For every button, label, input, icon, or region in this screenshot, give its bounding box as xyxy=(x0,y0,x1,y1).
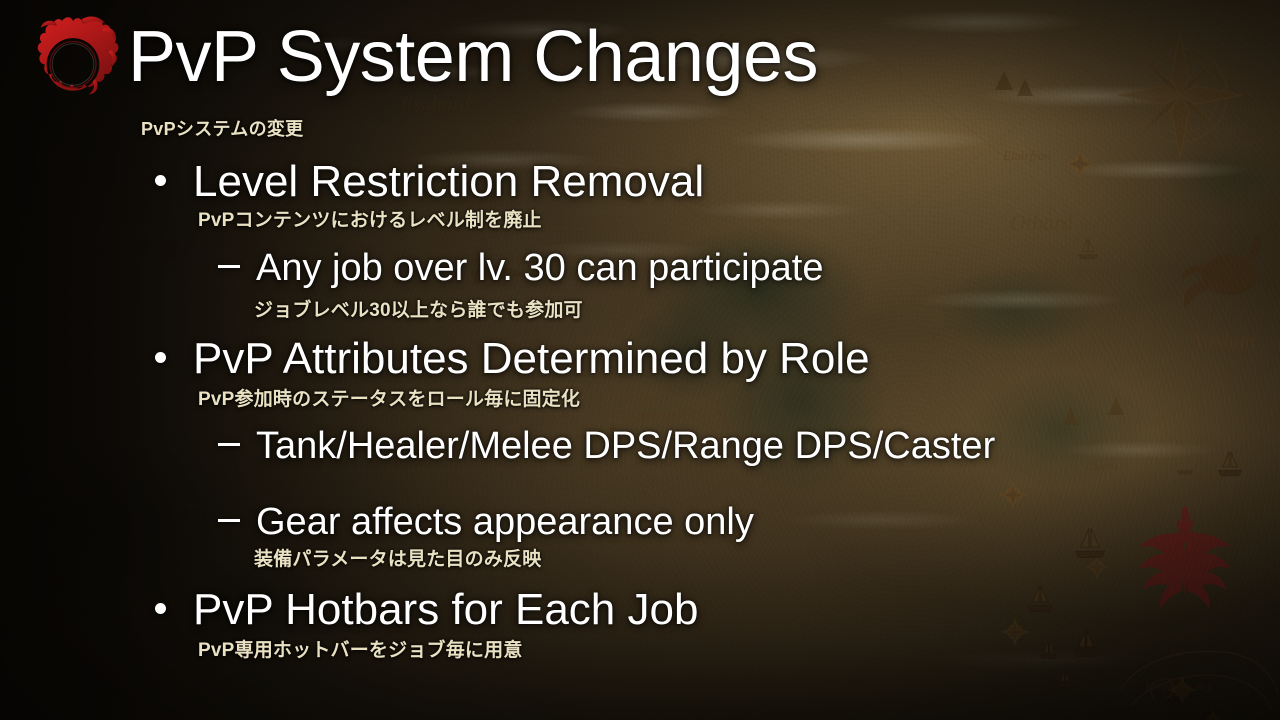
bullet-3-ja: PvP専用ホットバーをジョブ毎に用意 xyxy=(198,641,523,660)
bullet-2-ja: PvP参加時のステータスをロール毎に固定化 xyxy=(198,390,580,409)
subbullet-item-1-1: Any job over lv. 30 can participate xyxy=(218,249,824,287)
bullet-item-2: PvP Attributes Determined by Role xyxy=(155,337,870,381)
bullet-3-label: PvP Hotbars for Each Job xyxy=(193,585,698,634)
bullet-item-3: PvP Hotbars for Each Job xyxy=(155,588,698,632)
presentation-slide: Ilsabard Eluirfron Othard Yoshun The Coe… xyxy=(0,0,1280,720)
subbullet-2-2-ja: 装備パラメータは見た目のみ反映 xyxy=(254,550,541,569)
subbullet-1-1-ja: ジョブレベル30以上なら誰でも参加可 xyxy=(254,301,583,320)
subbullet-item-2-2: Gear affects appearance only xyxy=(218,503,754,541)
bullet-dot-icon xyxy=(155,603,166,614)
bullet-dot-icon xyxy=(155,175,166,186)
bullet-dash-icon xyxy=(218,265,240,268)
bullet-1-ja: PvPコンテンツにおけるレベル制を廃止 xyxy=(198,211,542,230)
bullet-dash-icon xyxy=(218,443,240,446)
subbullet-item-2-1: Tank/Healer/Melee DPS/Range DPS/Caster xyxy=(218,427,995,465)
bullet-dash-icon xyxy=(218,519,240,522)
subbullet-1-1-label: Any job over lv. 30 can participate xyxy=(256,247,824,289)
subbullet-2-1-label: Tank/Healer/Melee DPS/Range DPS/Caster xyxy=(256,425,995,467)
bullet-dot-icon xyxy=(155,352,166,363)
bullet-1-label: Level Restriction Removal xyxy=(193,157,704,206)
bullet-item-1: Level Restriction Removal xyxy=(155,160,704,204)
slide-body: Level Restriction Removal PvPコンテンツにおけるレベ… xyxy=(0,0,1280,720)
bullet-2-label: PvP Attributes Determined by Role xyxy=(193,334,870,383)
subbullet-2-2-label: Gear affects appearance only xyxy=(256,501,754,543)
